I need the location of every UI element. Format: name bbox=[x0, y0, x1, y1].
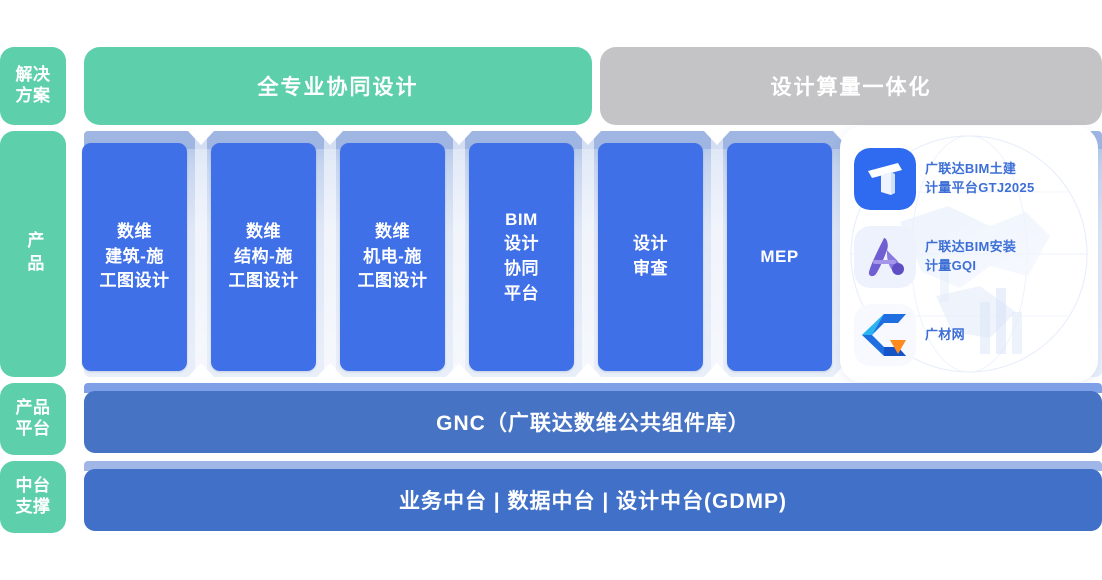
card-gutter bbox=[582, 131, 594, 377]
product-card-mep[interactable]: MEP bbox=[727, 143, 832, 371]
gnc-label: GNC（广联达数维公共组件库） bbox=[436, 407, 750, 437]
panel-row-gqi[interactable]: 广联达BIM安装 计量GQI bbox=[854, 218, 1088, 296]
panel-gqi-line2: 计量GQI bbox=[925, 257, 1016, 276]
card-bim-line1: BIM bbox=[504, 208, 539, 233]
panel-gtj-line2: 计量平台GTJ2025 bbox=[925, 179, 1035, 198]
banner-collaborative-design[interactable]: 全专业协同设计 bbox=[84, 47, 592, 125]
panel-row-gcw[interactable]: 广材网 bbox=[854, 296, 1088, 374]
quantity-products-list: 广联达BIM土建 计量平台GTJ2025 广联达BIM安装 计量 bbox=[840, 126, 1098, 382]
card-bim-line2: 设计 bbox=[504, 232, 539, 257]
product-card-bim-platform[interactable]: BIM 设计 协同 平台 bbox=[469, 143, 574, 371]
architecture-diagram: 解决 方案 产品 产品 平台 中台 支撑 全专业协同设计 设计算量一体化 bbox=[0, 0, 1102, 580]
card-struct-line1: 数维 bbox=[229, 220, 299, 245]
rail-platform-line2: 平台 bbox=[16, 419, 51, 440]
card-gutter bbox=[453, 131, 465, 377]
glodon-gtj-logo-icon bbox=[854, 148, 916, 210]
gnc-bar[interactable]: GNC（广联达数维公共组件库） bbox=[84, 391, 1102, 453]
card-struct-line2: 结构-施 bbox=[229, 245, 299, 270]
card-gutter bbox=[711, 131, 723, 377]
card-bim-line3: 协同 bbox=[504, 257, 539, 282]
glodon-gqi-logo-icon bbox=[854, 226, 916, 288]
card-review-line1: 设计 bbox=[633, 232, 668, 257]
card-gutter bbox=[195, 131, 207, 377]
product-card-design-review[interactable]: 设计 审查 bbox=[598, 143, 703, 371]
card-gutter bbox=[324, 131, 336, 377]
left-rail: 解决 方案 产品 产品 平台 中台 支撑 bbox=[0, 0, 66, 580]
product-card-struct-cad[interactable]: 数维 结构-施 工图设计 bbox=[211, 143, 316, 371]
card-arch-line2: 建筑-施 bbox=[100, 245, 170, 270]
panel-gcw-line1: 广材网 bbox=[925, 326, 965, 345]
card-mepcad-line3: 工图设计 bbox=[358, 269, 428, 294]
card-bim-line4: 平台 bbox=[504, 282, 539, 307]
rail-support-line2: 支撑 bbox=[16, 497, 51, 518]
card-arch-line1: 数维 bbox=[100, 220, 170, 245]
rail-item-product[interactable]: 产品 bbox=[0, 131, 66, 377]
middle-platform-bar[interactable]: 业务中台 | 数据中台 | 设计中台(GDMP) bbox=[84, 469, 1102, 531]
card-mepcad-line2: 机电-施 bbox=[358, 245, 428, 270]
card-mepcad-line1: 数维 bbox=[358, 220, 428, 245]
rail-item-middle-support[interactable]: 中台 支撑 bbox=[0, 461, 66, 533]
panel-gtj-line1: 广联达BIM土建 bbox=[925, 160, 1035, 179]
rail-support-line1: 中台 bbox=[16, 476, 51, 497]
banner-quantity-integration-label: 设计算量一体化 bbox=[771, 71, 932, 101]
rail-solution-line2: 方案 bbox=[16, 86, 51, 107]
rail-platform-line1: 产品 bbox=[16, 398, 51, 419]
card-review-line2: 审查 bbox=[633, 257, 668, 282]
rail-product-label: 产品 bbox=[23, 231, 44, 277]
middle-platform-label: 业务中台 | 数据中台 | 设计中台(GDMP) bbox=[399, 485, 787, 515]
card-arch-line3: 工图设计 bbox=[100, 269, 170, 294]
glodon-gcw-logo-icon bbox=[854, 304, 916, 366]
rail-item-solution[interactable]: 解决 方案 bbox=[0, 47, 66, 125]
panel-row-gtj[interactable]: 广联达BIM土建 计量平台GTJ2025 bbox=[854, 140, 1088, 218]
banner-collaborative-design-label: 全专业协同设计 bbox=[258, 71, 419, 101]
rail-solution-line1: 解决 bbox=[16, 65, 51, 86]
quantity-products-panel: 广联达BIM土建 计量平台GTJ2025 广联达BIM安装 计量 bbox=[840, 126, 1098, 382]
product-card-arch-cad[interactable]: 数维 建筑-施 工图设计 bbox=[82, 143, 187, 371]
card-mep-label: MEP bbox=[760, 245, 798, 270]
card-struct-line3: 工图设计 bbox=[229, 269, 299, 294]
panel-gqi-line1: 广联达BIM安装 bbox=[925, 238, 1016, 257]
product-card-mep-cad[interactable]: 数维 机电-施 工图设计 bbox=[340, 143, 445, 371]
banner-quantity-integration[interactable]: 设计算量一体化 bbox=[600, 47, 1102, 125]
rail-item-product-platform[interactable]: 产品 平台 bbox=[0, 383, 66, 455]
